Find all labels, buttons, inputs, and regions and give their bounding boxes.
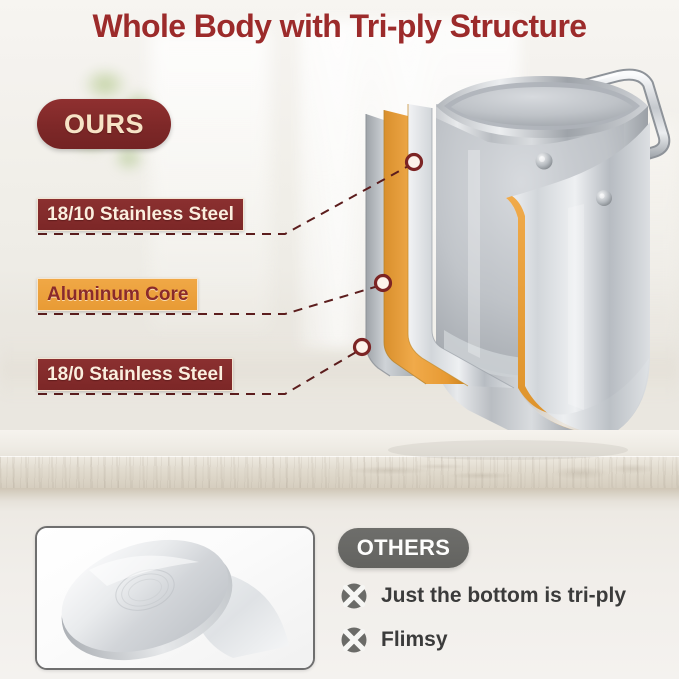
- others-con-item: Just the bottom is tri-ply: [339, 581, 626, 611]
- layer-label-text: 18/10 Stainless Steel: [47, 204, 234, 226]
- others-badge-label: OTHERS: [357, 535, 450, 561]
- x-mark-icon: [339, 625, 369, 655]
- page-title: Whole Body with Tri-ply Structure: [0, 8, 679, 45]
- product-infographic: Whole Body with Tri-ply Structure OURS 1…: [0, 0, 679, 679]
- others-badge: OTHERS: [338, 528, 469, 568]
- others-con-label: Just the bottom is tri-ply: [381, 584, 626, 608]
- tri-ply-pot-illustration: [318, 58, 679, 460]
- layer-label-18-0-stainless-steel: 18/0 Stainless Steel: [37, 358, 233, 391]
- others-photo-frame: [35, 526, 315, 670]
- ours-badge-label: OURS: [64, 109, 144, 140]
- countertop-grain: [320, 460, 550, 486]
- others-con-item: Flimsy: [339, 625, 448, 655]
- countertop-shadow: [0, 488, 679, 512]
- others-photo: [37, 528, 313, 668]
- ours-badge: OURS: [37, 99, 171, 149]
- layer-label-18-10-stainless-steel: 18/10 Stainless Steel: [37, 198, 244, 231]
- layer-label-text: Aluminum Core: [47, 284, 188, 306]
- layer-label-text: 18/0 Stainless Steel: [47, 364, 223, 386]
- others-con-label: Flimsy: [381, 628, 448, 652]
- layer-label-aluminum-core: Aluminum Core: [37, 278, 198, 311]
- countertop-grain: [520, 459, 670, 487]
- x-mark-icon: [339, 581, 369, 611]
